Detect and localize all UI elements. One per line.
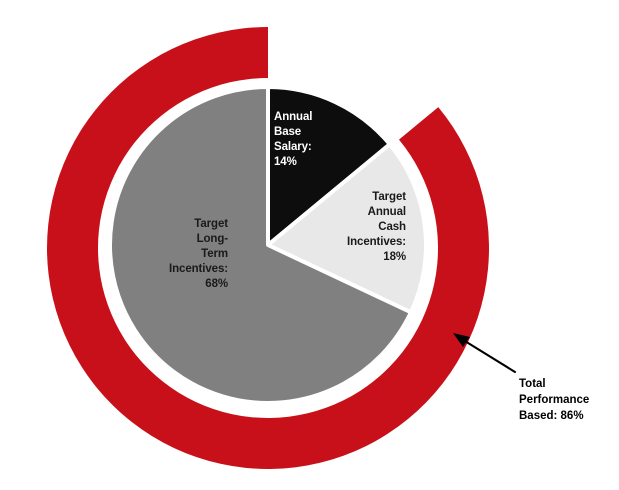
annotation-label-total-performance-based: Total Performance Based: 86% <box>519 377 619 425</box>
chart-container: Annual Base Salary: 14% Target Annual Ca… <box>0 0 619 490</box>
slice-label-target-annual-cash-incentives: Target Annual Cash Incentives: 18% <box>322 190 406 265</box>
arrow-line <box>460 338 515 372</box>
slice-label-target-long-term-incentives: Target Long- Term Incentives: 68% <box>138 217 228 292</box>
slice-label-annual-base-salary: Annual Base Salary: 14% <box>274 110 352 170</box>
